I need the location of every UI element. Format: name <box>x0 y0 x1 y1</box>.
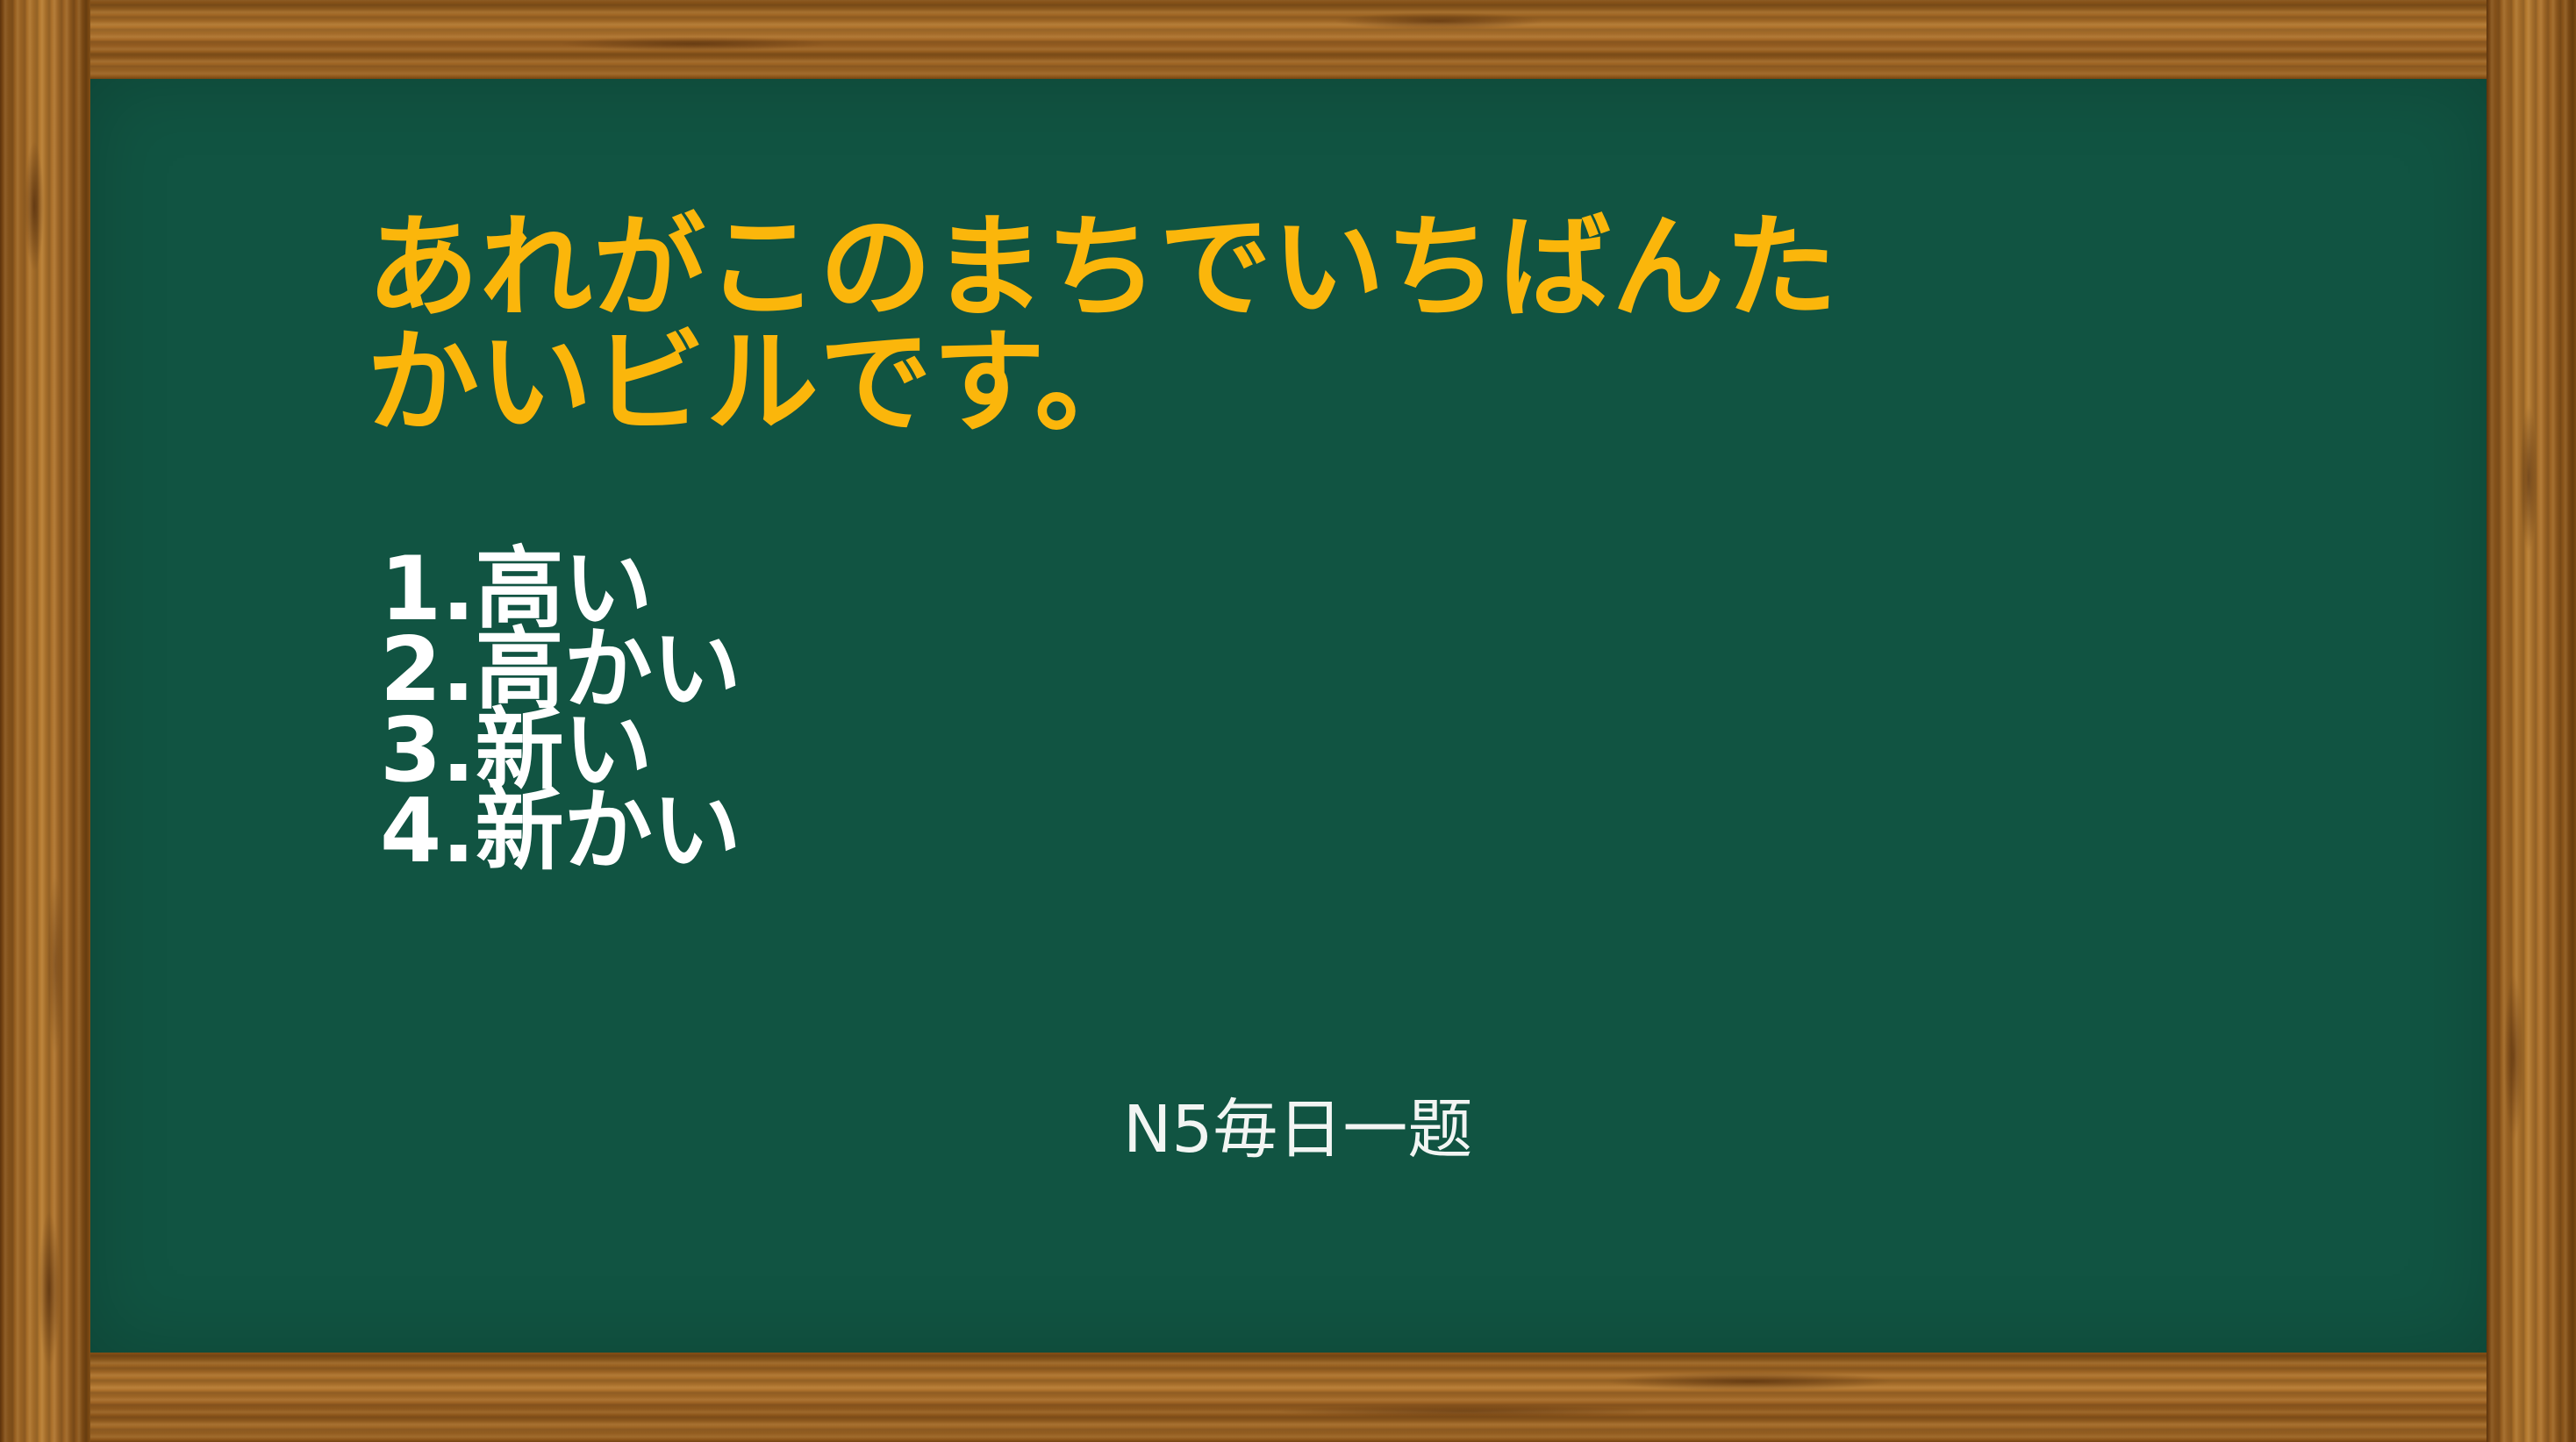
question-text: あれがこのまちでいちばんた かいビルです。 <box>367 211 2385 440</box>
wood-knot <box>47 877 63 1053</box>
answer-options-list: 1.高い 2.高かい 3.新い 4.新かい <box>380 553 741 875</box>
wood-knot <box>1334 12 1544 30</box>
frame-rail-top <box>0 0 2576 79</box>
frame-rail-bottom <box>0 1353 2576 1442</box>
wood-knot <box>2504 974 2523 1140</box>
wood-knot <box>562 37 825 51</box>
frame-stile-right <box>2487 0 2576 1442</box>
chalkboard-surface: あれがこのまちでいちばんた かいビルです。 1.高い 2.高かい 3.新い 4.… <box>90 79 2487 1353</box>
wood-knot <box>39 1210 60 1368</box>
blackboard-slide: あれがこのまちでいちばんた かいビルです。 1.高い 2.高かい 3.新い 4.… <box>0 0 2576 1442</box>
wood-knot <box>25 140 44 272</box>
wood-knot <box>1606 1372 1895 1391</box>
footer-caption: N5毎日一题 <box>1123 1095 1472 1165</box>
wood-knot <box>1281 1405 1649 1417</box>
wood-knot <box>2520 403 2537 553</box>
answer-option-4[interactable]: 4.新かい <box>380 795 741 875</box>
frame-stile-left <box>0 0 90 1442</box>
